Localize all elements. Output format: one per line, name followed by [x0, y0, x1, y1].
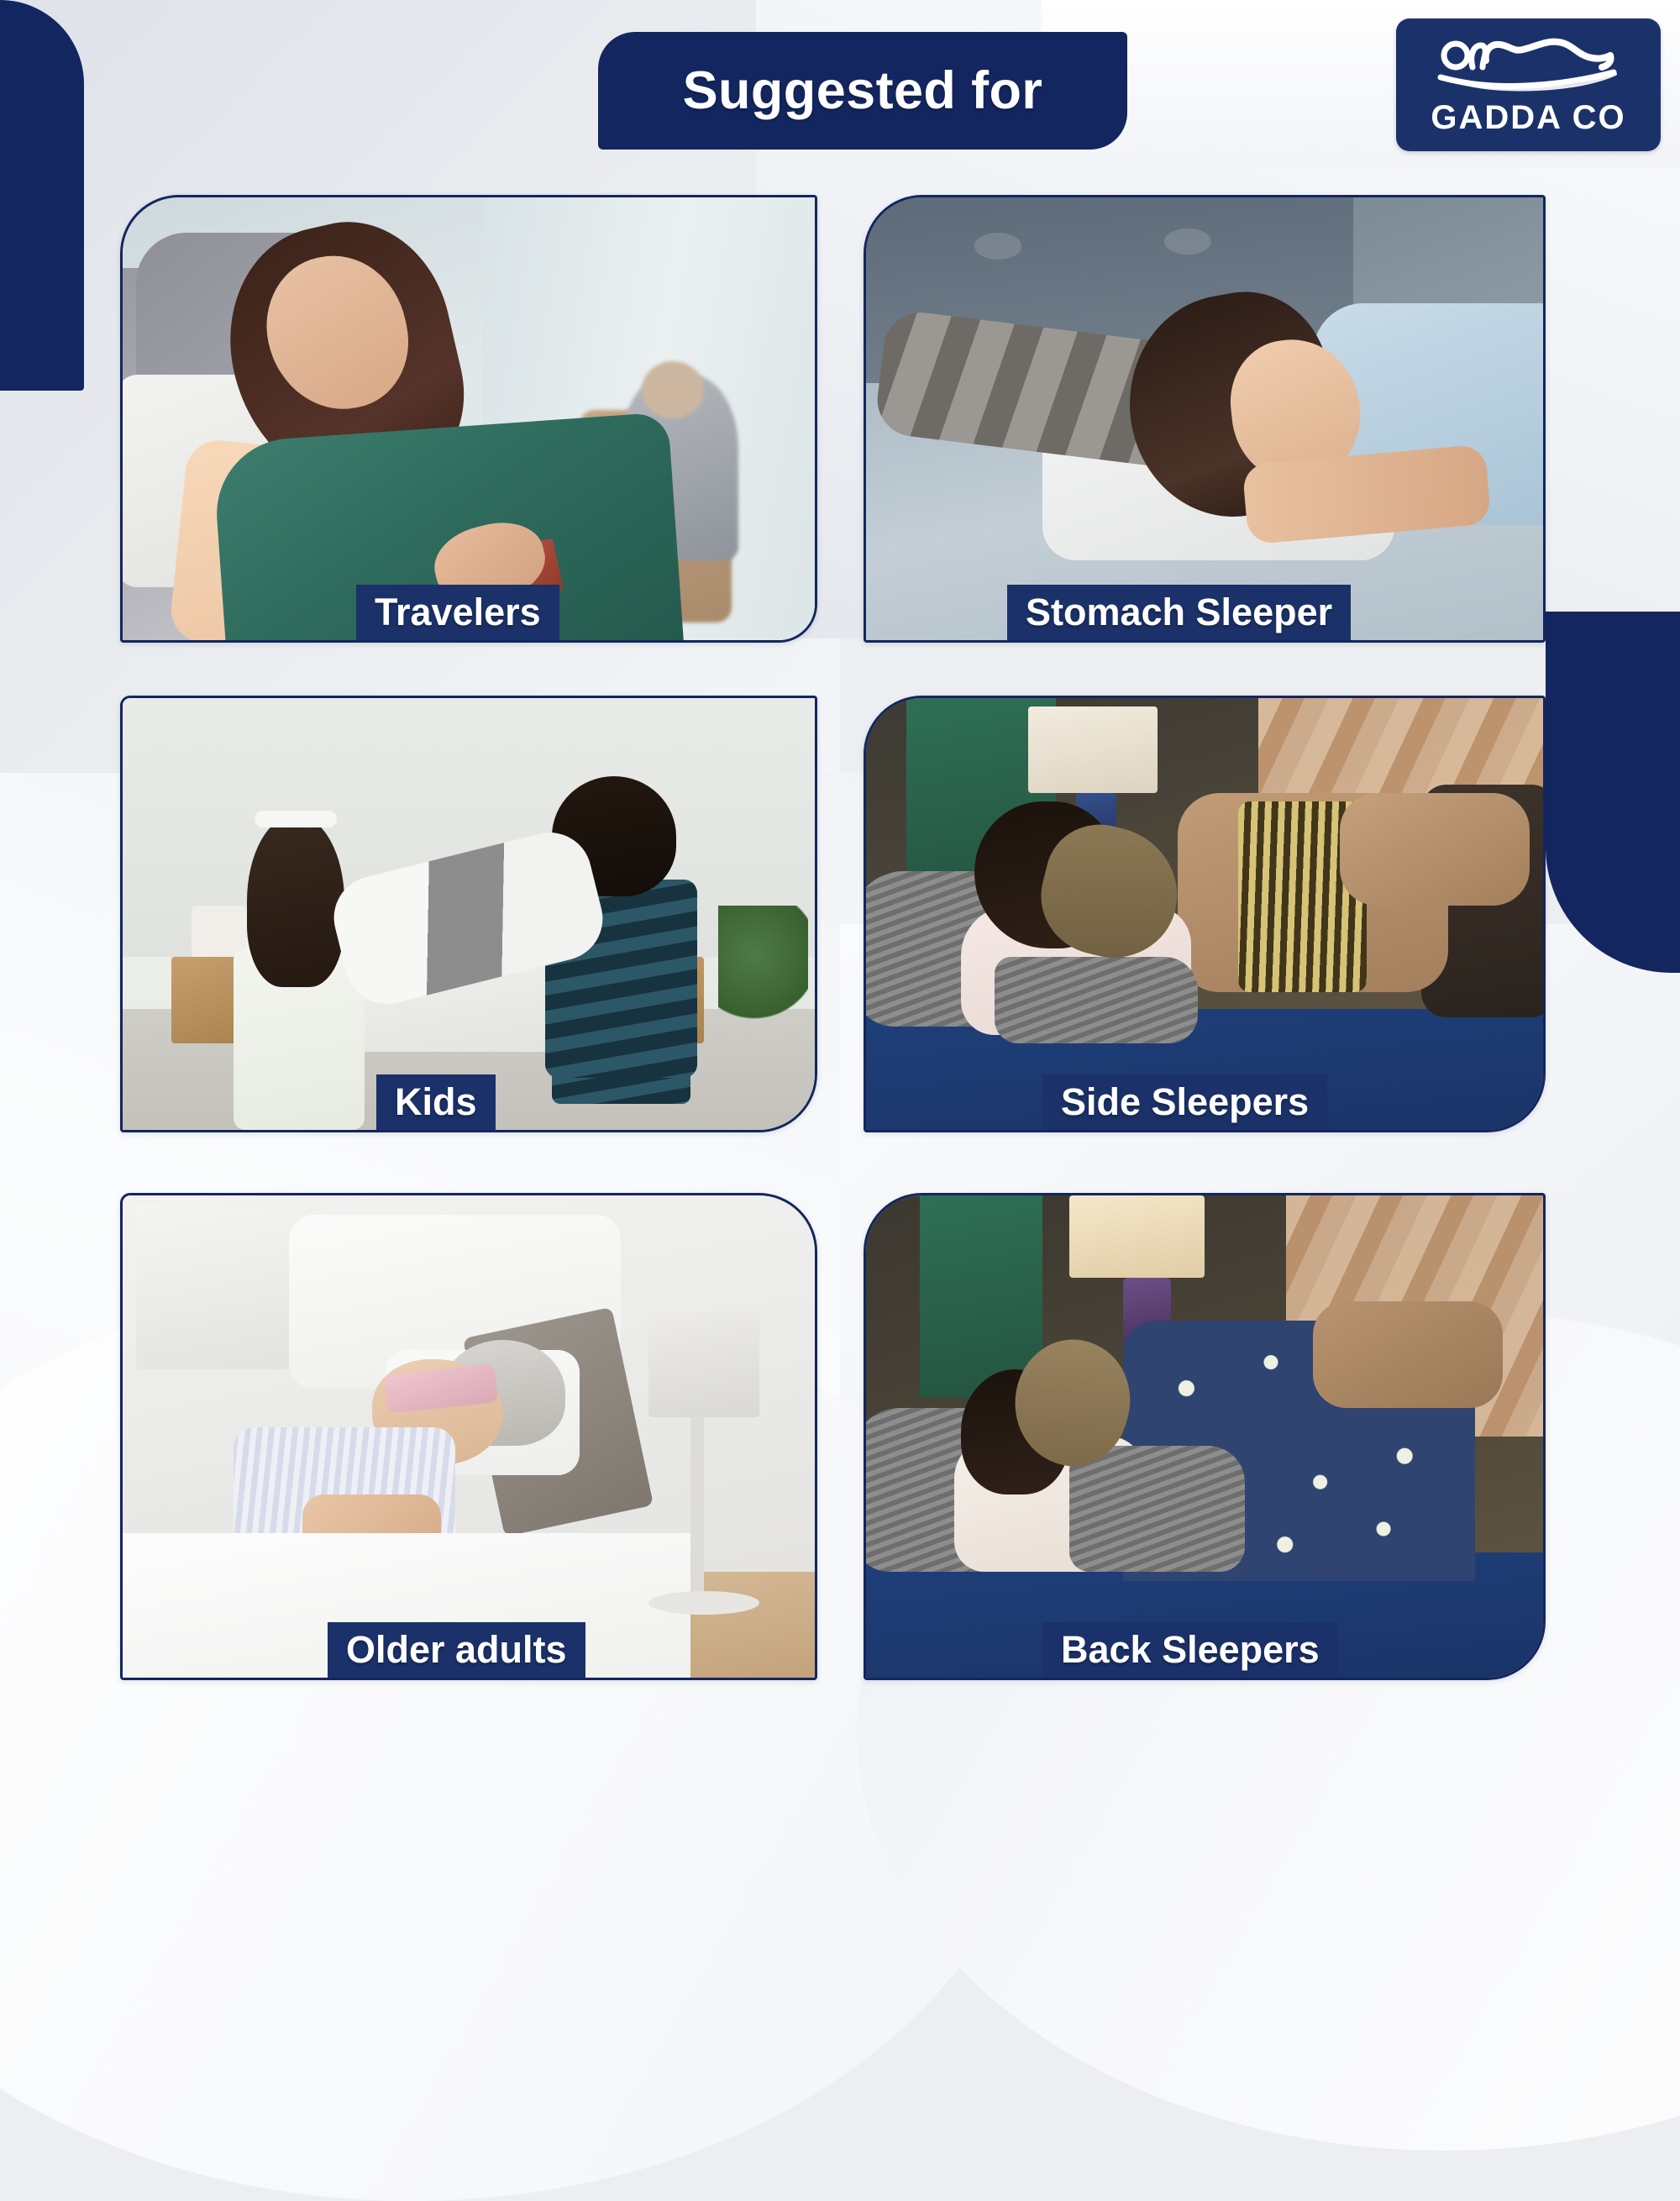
page-title-banner: Suggested for: [598, 32, 1127, 150]
card-stomach-sleeper[interactable]: Stomach Sleeper: [864, 195, 1546, 643]
photo-travelers: [123, 197, 815, 640]
card-label-older-adults: Older adults: [328, 1622, 585, 1678]
card-label-kids: Kids: [376, 1074, 496, 1130]
card-label-text: Stomach Sleeper: [1026, 591, 1332, 634]
suggested-for-card-grid: Travelers Stomach Sleeper: [0, 0, 1680, 1680]
photo-side-sleepers: [866, 698, 1543, 1130]
brand-logo: GADDA CO: [1396, 18, 1661, 151]
photo-older-adults: [123, 1195, 815, 1678]
card-kids[interactable]: Kids: [120, 696, 817, 1132]
header: Suggested for GADDA CO: [0, 0, 1680, 168]
card-older-adults[interactable]: Older adults: [120, 1193, 817, 1680]
card-label-stomach-sleeper: Stomach Sleeper: [1007, 585, 1351, 640]
card-label-text: Back Sleepers: [1061, 1628, 1320, 1672]
card-label-text: Kids: [395, 1080, 477, 1124]
card-label-back-sleepers: Back Sleepers: [1042, 1622, 1338, 1678]
person-on-mattress-icon: [1432, 35, 1625, 97]
photo-stomach-sleeper: [866, 197, 1543, 640]
photo-kids: [123, 698, 815, 1130]
card-label-side-sleepers: Side Sleepers: [1042, 1074, 1327, 1130]
card-back-sleepers[interactable]: Back Sleepers: [864, 1193, 1546, 1680]
card-travelers[interactable]: Travelers: [120, 195, 817, 643]
card-label-text: Older adults: [346, 1628, 567, 1672]
card-label-text: Side Sleepers: [1061, 1080, 1309, 1124]
card-label-travelers: Travelers: [356, 585, 559, 640]
photo-back-sleepers: [866, 1195, 1543, 1678]
card-side-sleepers[interactable]: Side Sleepers: [864, 696, 1546, 1132]
page-title: Suggested for: [683, 60, 1043, 121]
card-label-text: Travelers: [375, 591, 541, 634]
brand-name: GADDA CO: [1431, 99, 1625, 137]
